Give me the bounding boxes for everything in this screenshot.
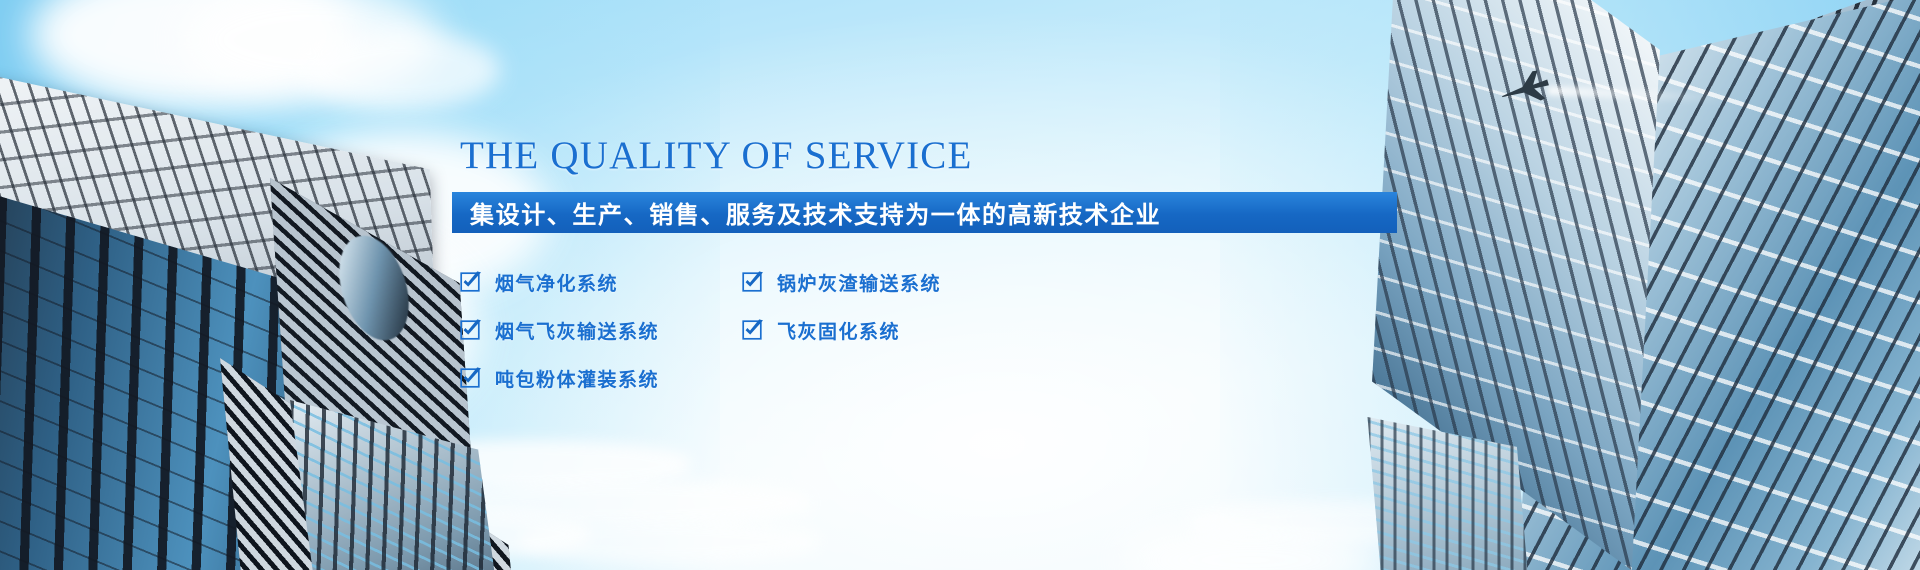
airplane-icon (1497, 68, 1553, 110)
list-item-label: 锅炉灰渣输送系统 (777, 269, 941, 296)
list-item-label: 吨包粉体灌装系统 (495, 365, 659, 392)
checkbox-checked-icon (742, 272, 762, 292)
tagline-bar: 集设计、生产、销售、服务及技术支持为一体的高新技术企业 (452, 192, 1397, 233)
list-item[interactable]: 烟气净化系统 (452, 269, 734, 296)
checkbox-checked-icon (460, 368, 480, 388)
hero-banner: THE QUALITY OF SERVICE 集设计、生产、销售、服务及技术支持… (0, 0, 1920, 570)
list-item-label: 烟气净化系统 (495, 269, 618, 296)
tagline-text: 集设计、生产、销售、服务及技术支持为一体的高新技术企业 (452, 195, 1161, 230)
list-item[interactable]: 吨包粉体灌装系统 (452, 365, 734, 392)
list-item-label: 飞灰固化系统 (777, 317, 900, 344)
checkbox-checked-icon (460, 272, 480, 292)
checkbox-checked-icon (460, 320, 480, 340)
list-item-label: 烟气飞灰输送系统 (495, 317, 659, 344)
list-item[interactable]: 锅炉灰渣输送系统 (734, 269, 1034, 296)
page-title: THE QUALITY OF SERVICE (452, 134, 1432, 178)
hero-content: THE QUALITY OF SERVICE 集设计、生产、销售、服务及技术支持… (452, 134, 1432, 392)
feature-list: 烟气净化系统 锅炉灰渣输送系统 烟气飞灰输送 (452, 269, 1212, 392)
checkbox-checked-icon (742, 320, 762, 340)
list-item[interactable]: 烟气飞灰输送系统 (452, 317, 734, 344)
list-item[interactable]: 飞灰固化系统 (734, 317, 1034, 344)
